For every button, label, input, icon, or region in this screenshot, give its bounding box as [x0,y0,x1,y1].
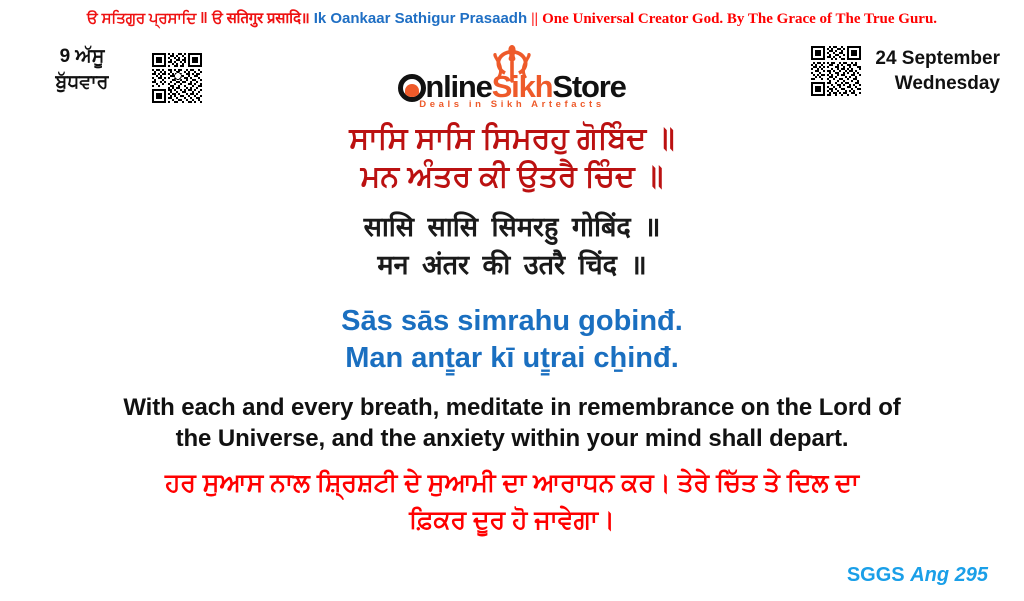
devanagari-verse-line-1: सासि सासि सिमरहु गोबिंद ॥ [0,208,1024,246]
nanakshahi-date-block: 9 ਅੱਸੂ ਬੁੱਧਵਾਰ [22,44,252,103]
english-translation-line-2: the Universe, and the anxiety within you… [26,423,998,454]
nanakshahi-weekday: ਬੁੱਧਵਾਰ [22,70,142,96]
qr-code-icon-left[interactable] [152,53,202,103]
gurmukhi-verse-line-1: ਸਾਸਿ ਸਾਸਿ ਸਿਮਰਹੁ ਗੋਬਿੰਦ ॥ [0,120,1024,158]
khanda-icon [485,44,539,84]
transliteration-line-1: Sās sās simrahu gobinđ. [0,303,1024,340]
transliteration-verse: Sās sās simrahu gobinđ. Man anṯ̱ar kī uṯ… [0,303,1024,377]
nanakshahi-labels: 9 ਅੱਸੂ ਬੁੱਧਵਾਰ [22,44,142,96]
gregorian-labels: 24 September Wednesday [875,44,1000,96]
mool-mantar-transliteration: Ik Oankaar Sathigur Prasaadh [314,10,527,27]
punjabi-translation-line-1: ਹਰ ਸੁਆਸ ਨਾਲ ਸ਼੍ਰਿਸ਼ਟੀ ਦੇ ਸੁਆਮੀ ਦਾ ਆਰਾਧਨ … [20,465,1004,502]
punjabi-translation-line-2: ਫ਼ਿਕਰ ਦੂਰ ਹੋ ਜਾਵੇਗਾ। [20,502,1004,539]
english-translation-line-1: With each and every breath, meditate in … [26,392,998,423]
scripture-ang-ref: Ang 295 [910,564,988,586]
devanagari-verse: सासि सासि सिमरहु गोबिंद ॥ मन अंतर की उतर… [0,208,1024,284]
mool-separator-2: || [531,11,538,27]
mool-separator-1: ‖ [200,10,207,27]
scripture-source-abbr: SGGS [847,564,905,586]
mool-mantar-gurmukhi: ੳ ਸਤਿਗੁਰ ਪ੍ਰਸਾਦਿ [87,10,196,27]
brand-logo[interactable]: nlineSikhStore Deals in Sikh Artefacts [377,48,647,110]
khanda-wrap [377,48,647,74]
gregorian-date-block: 24 September Wednesday [811,44,1000,96]
logo-o-mark [398,74,426,102]
punjabi-translation: ਹਰ ਸੁਆਸ ਨਾਲ ਸ਼੍ਰਿਸ਼ਟੀ ਦੇ ਸੁਆਮੀ ਦਾ ਆਰਾਧਨ … [0,465,1024,539]
qr-code-icon-right[interactable] [811,46,861,96]
gregorian-date: 24 September [875,46,1000,71]
mool-mantar-devanagari: ੳ सतिगुर प्रसादि॥ [212,10,310,27]
english-translation: With each and every breath, meditate in … [0,392,1024,454]
gurmukhi-verse-line-2: ਮਨ ਅੰਤਰ ਕੀ ਉਤਰੈ ਚਿੰਦ ॥ [0,158,1024,196]
scripture-reference: SGGS Ang 295 [847,564,988,587]
gurmukhi-verse: ਸਾਸਿ ਸਾਸਿ ਸਿਮਰਹੁ ਗੋਬਿੰਦ ॥ ਮਨ ਅੰਤਰ ਕੀ ਉਤਰ… [0,120,1024,196]
mool-mantar-english: One Universal Creator God. By The Grace … [542,11,937,27]
devanagari-verse-line-2: मन अंतर की उतरै चिंद ॥ [0,246,1024,284]
mool-mantar-header: ੳ ਸਤਿਗੁਰ ਪ੍ਰਸਾਦਿ ‖ ੳ सतिगुर प्रसादि॥ Ik … [0,9,1024,29]
nanakshahi-day: 9 ਅੱਸੂ [22,44,142,70]
gregorian-weekday: Wednesday [875,71,1000,96]
transliteration-line-2: Man anṯ̱ar kī uṯ̱rai cẖinđ. [0,340,1024,377]
